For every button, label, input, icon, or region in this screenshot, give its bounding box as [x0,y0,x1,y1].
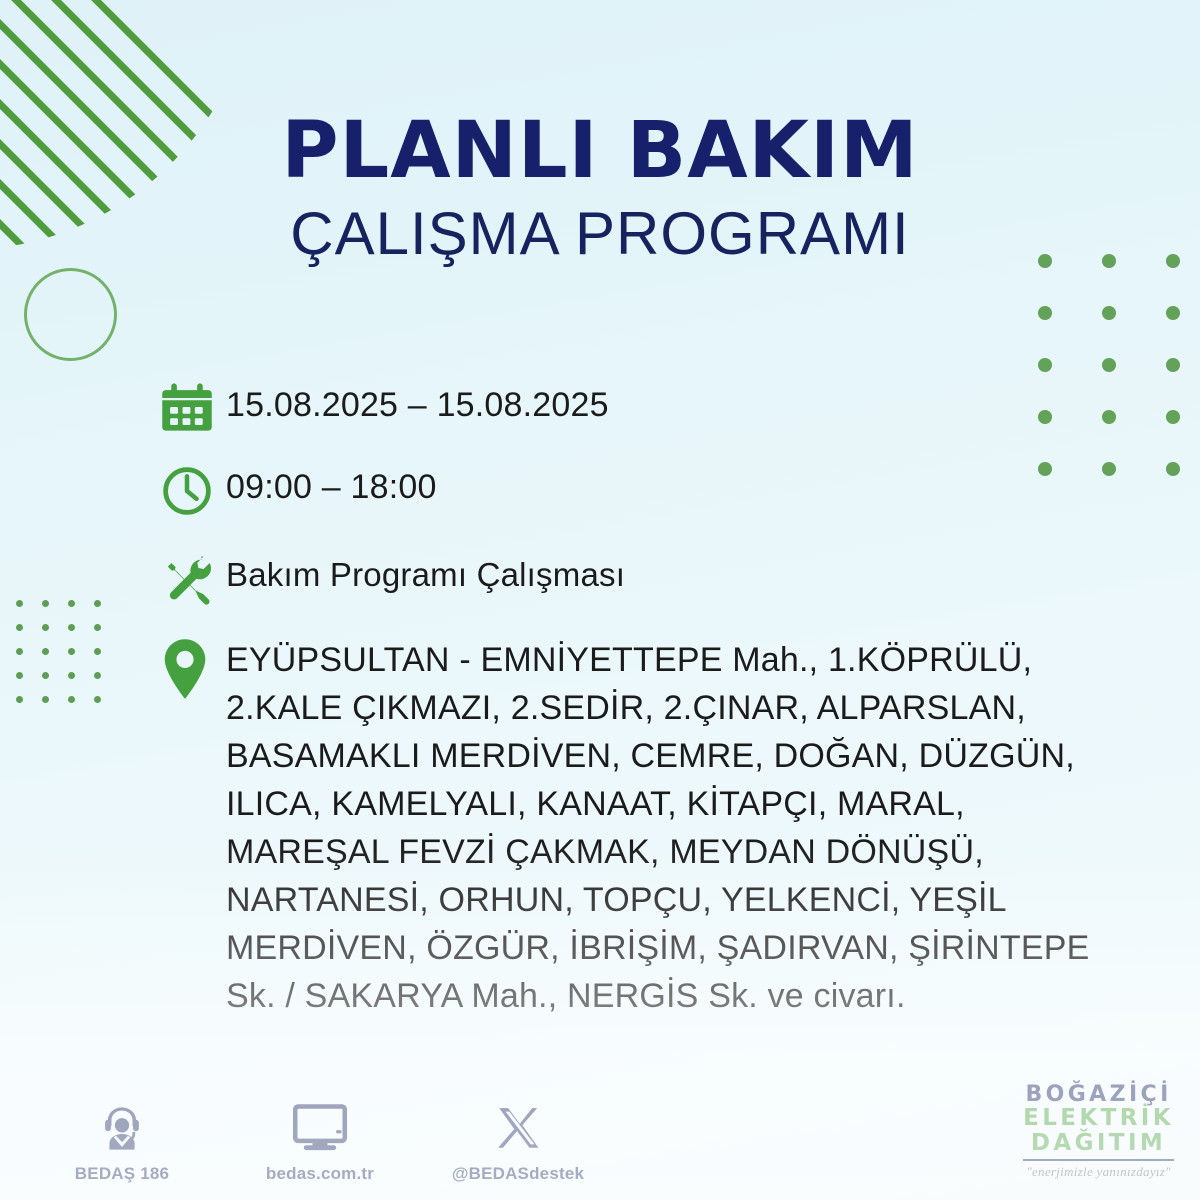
brand-line-dagitim: DAĞITIM [1023,1131,1174,1155]
contact-label: bedas.com.tr [250,1164,390,1184]
location-row: EYÜPSULTAN - EMNİYETTEPE Mah., 1.KÖPRÜLÜ… [160,636,1160,1020]
address-line: Sk. / SAKARYA Mah., NERGİS Sk. ve civarı… [226,972,1090,1020]
circle-outline-decoration [24,268,117,361]
poster-canvas: PLANLI BAKIM ÇALIŞMA PROGRAMI [0,0,1200,1200]
monitor-icon [250,1092,390,1154]
brand-tagline: "enerjimizle yanınızdayız" [1023,1164,1174,1180]
contact-label: BEDAŞ 186 [52,1164,192,1184]
address-line: NARTANESİ, ORHUN, TOPÇU, YELKENCİ, YEŞİL [226,876,1090,924]
date-row: 15.08.2025 – 15.08.2025 [160,378,1160,434]
time-row: 09:00 – 18:00 [160,462,1160,518]
contact-list: BEDAŞ 186 bedas.com.tr [52,1092,588,1184]
x-twitter-icon [448,1092,588,1154]
bedas-logo: BOĞAZİÇİ ELEKTRİK DAĞITIM "enerjimizle y… [1023,1083,1174,1180]
work-type-row: Bakım Programı Çalışması [160,550,1160,608]
address-line: MERDİVEN, ÖZGÜR, İBRİŞİM, ŞADIRVAN, ŞİRİ… [226,924,1090,972]
contact-x-twitter[interactable]: @BEDASdestek [448,1092,588,1184]
address-line: BASAMAKLI MERDİVEN, CEMRE, DOĞAN, DÜZGÜN… [226,732,1090,780]
page-subtitle: ÇALIŞMA PROGRAMI [0,204,1200,264]
support-agent-icon [52,1092,192,1154]
address-line: EYÜPSULTAN - EMNİYETTEPE Mah., 1.KÖPRÜLÜ… [226,636,1090,684]
contact-website[interactable]: bedas.com.tr [250,1092,390,1184]
contact-label: @BEDASdestek [448,1164,588,1184]
clock-icon [160,462,226,518]
address-line: MAREŞAL FEVZİ ÇAKMAK, MEYDAN DÖNÜŞÜ, [226,828,1090,876]
info-block: 15.08.2025 – 15.08.2025 09:00 – 18:00 [160,378,1160,1046]
time-range-text: 09:00 – 18:00 [226,462,437,507]
brand-divider [1023,1159,1174,1161]
address-line: 2.KALE ÇIKMAZI, 2.SEDİR, 2.ÇINAR, ALPARS… [226,684,1090,732]
location-pin-icon [160,636,226,700]
contact-phone[interactable]: BEDAŞ 186 [52,1092,192,1184]
brand-line-elektrik: ELEKTRİK [1023,1106,1174,1130]
brand-line-bogazici: BOĞAZİÇİ [1023,1083,1174,1106]
page-title: PLANLI BAKIM [0,112,1200,190]
location-address-text: EYÜPSULTAN - EMNİYETTEPE Mah., 1.KÖPRÜLÜ… [226,636,1090,1020]
work-type-text: Bakım Programı Çalışması [226,550,625,594]
tools-icon [160,550,226,608]
calendar-icon [160,378,226,434]
poster-footer: BEDAŞ 186 bedas.com.tr [0,1050,1200,1200]
address-line: ILICA, KAMELYALI, KANAAT, KİTAPÇI, MARAL… [226,780,1090,828]
poster-header: PLANLI BAKIM ÇALIŞMA PROGRAMI [0,112,1200,264]
dot-grid-left-decoration [16,592,106,712]
date-range-text: 15.08.2025 – 15.08.2025 [226,378,609,425]
